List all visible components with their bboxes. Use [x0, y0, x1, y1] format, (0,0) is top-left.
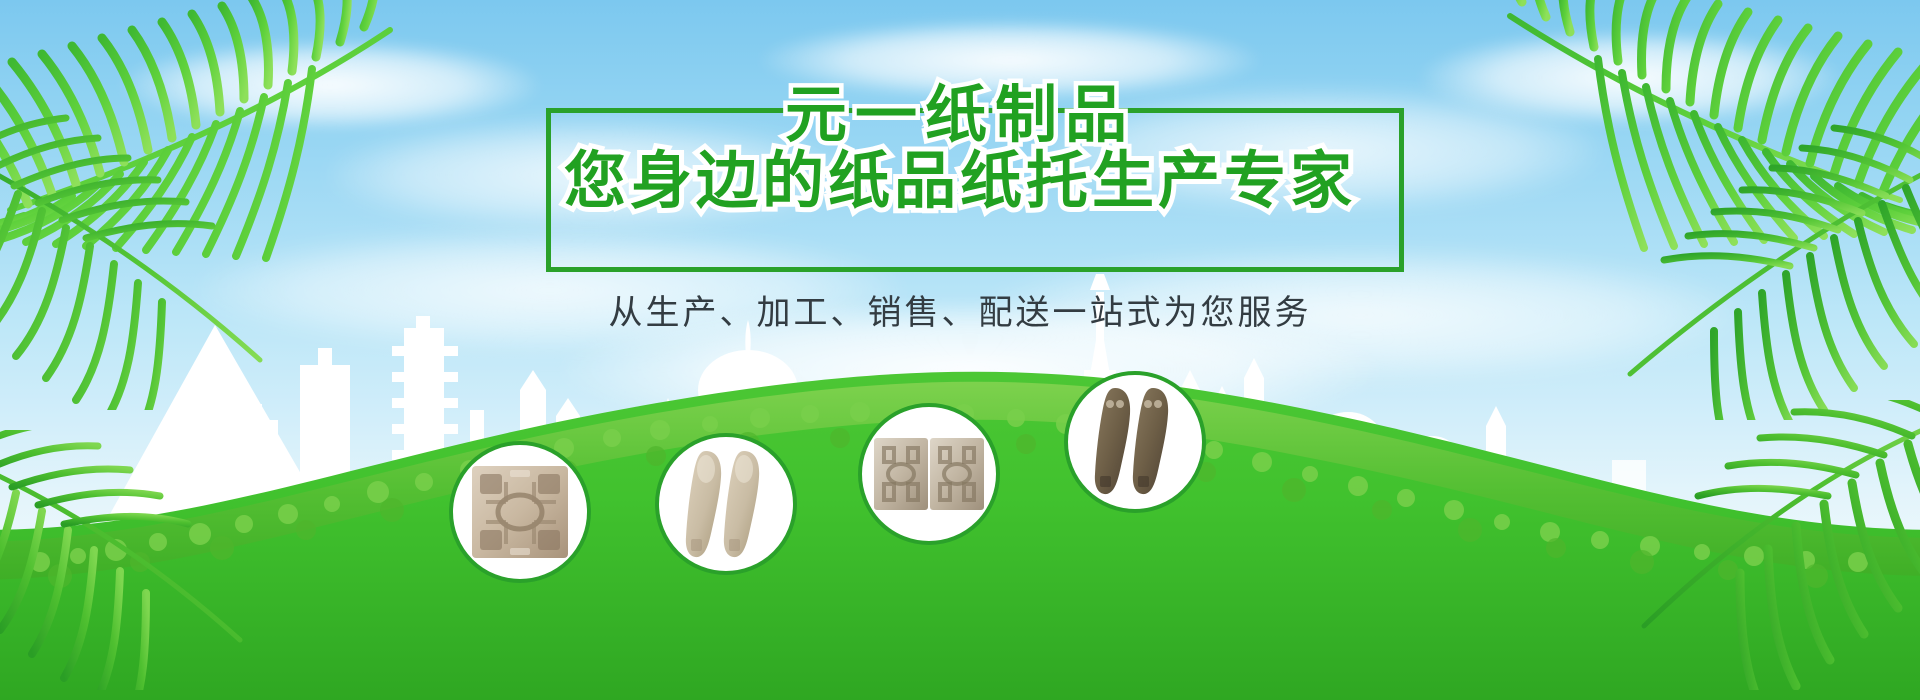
product-image-1	[453, 445, 587, 579]
square-pulp-tray-icon	[466, 458, 574, 566]
double-pulp-tray-icon	[872, 432, 986, 516]
headline-zone: 元一纸制品 您身边的纸品纸托生产专家 从生产、加工、销售、配送一站式为您服务	[0, 0, 1920, 360]
subtitle-text: 从生产、加工、销售、配送一站式为您服务	[0, 285, 1920, 334]
product-image-4	[1068, 375, 1202, 509]
product-circle-1[interactable]	[449, 441, 591, 583]
headline-text: 您身边的纸品纸托生产专家	[0, 148, 1920, 213]
shoe-insert-pair-dark-icon	[1085, 384, 1185, 500]
product-image-3	[862, 407, 996, 541]
product-image-2	[659, 437, 793, 571]
product-circle-3[interactable]	[858, 403, 1000, 545]
product-circle-2[interactable]	[655, 433, 797, 575]
brand-title: 元一纸制品	[0, 82, 1920, 147]
shoe-insert-pair-light-icon	[676, 445, 776, 563]
palm-leaf-bottom-right-icon	[1630, 400, 1920, 690]
product-circle-4[interactable]	[1064, 371, 1206, 513]
palm-leaf-bottom-left-icon	[0, 430, 250, 690]
promo-banner: 元一纸制品 您身边的纸品纸托生产专家 从生产、加工、销售、配送一站式为您服务	[0, 0, 1920, 700]
